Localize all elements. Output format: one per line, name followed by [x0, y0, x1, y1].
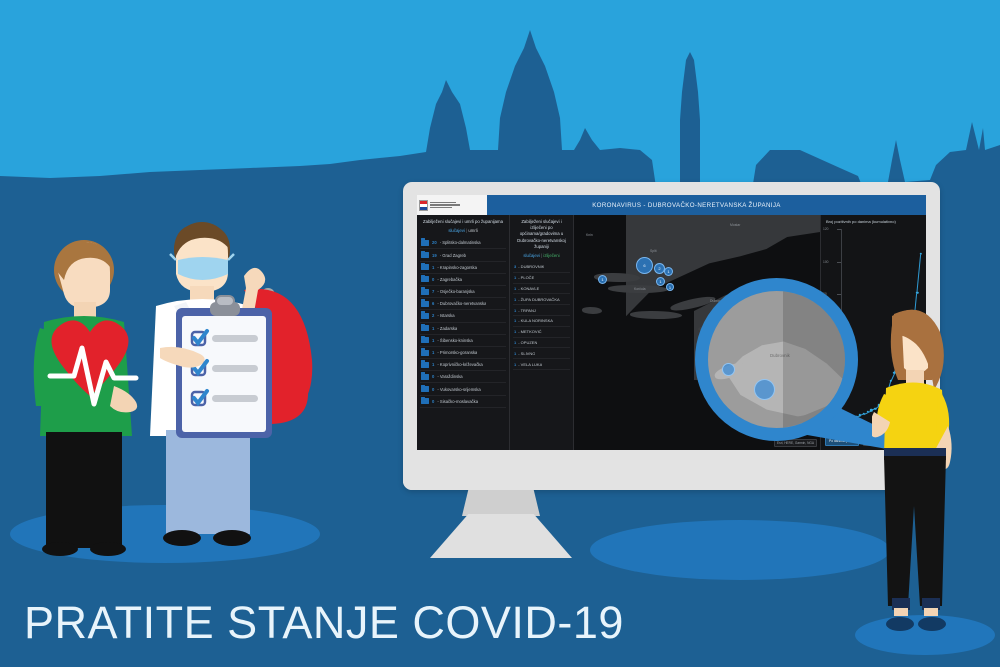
chart-y-tick-label: 100	[823, 260, 829, 264]
folder-icon	[421, 289, 429, 295]
county-count: 1	[432, 362, 434, 367]
map-label-knin: Knin	[586, 233, 593, 237]
municipality-row[interactable]: 1- METKOVIĆ	[513, 327, 570, 338]
municipality-label: - SLIVNO	[518, 351, 535, 356]
county-label: - Dubrovačko-neretvanska	[437, 301, 486, 306]
map-marker-cluster-1c[interactable]: 1	[598, 275, 607, 284]
county-count: 0	[432, 374, 434, 379]
municipality-count: 1	[514, 318, 516, 323]
folder-icon	[421, 240, 429, 246]
municipalities-toggle[interactable]: slučajevi | izliječeni	[513, 253, 570, 258]
chart-y-tick-label: 80	[823, 292, 827, 296]
county-label: - Vukovarsko-srijemska	[437, 387, 480, 392]
county-label: - Koprivničko-križevačka	[437, 362, 482, 367]
municipality-label: - KULA NORINSKA	[518, 318, 553, 323]
map-marker-cluster-1b[interactable]: 1	[656, 277, 665, 286]
municipality-label: - PLOČE	[518, 275, 534, 280]
monitor-chin	[403, 463, 940, 490]
dashboard-title: KORONAVIRUS - DUBROVAČKO-NERETVANSKA ŽUP…	[487, 202, 926, 209]
chart-line-segment	[916, 254, 921, 293]
folder-icon	[421, 362, 429, 368]
counties-toggle-sep: |	[466, 228, 467, 233]
municipality-count: 1	[514, 340, 516, 345]
county-label: - Sisačko-moslavačka	[437, 399, 478, 404]
county-count: 1	[432, 350, 434, 355]
municipalities-panel: Zabilježeni slučajevi i izliječeni po op…	[510, 215, 574, 450]
croatia-institute-logo	[417, 195, 487, 215]
folder-icon	[421, 264, 429, 270]
desktop-monitor: KORONAVIRUS - DUBROVAČKO-NERETVANSKA ŽUP…	[403, 182, 940, 490]
county-label: - Grad Zagreb	[440, 253, 466, 258]
monitor-stand-neck	[462, 490, 540, 516]
municipality-count: 1	[514, 329, 516, 334]
chart-y-tick-label: 20	[823, 390, 827, 394]
chart-y-tick-mark	[837, 327, 841, 328]
map-island-vis	[582, 307, 602, 314]
doctor-with-clipboard	[140, 220, 315, 556]
county-count: 2	[432, 313, 434, 318]
county-count: 1	[432, 338, 434, 343]
poster-headline: PRATITE STANJE COVID-19	[24, 597, 624, 649]
counties-list[interactable]: 20- Splitsko-dalmatinska19- Grad Zagreb1…	[420, 237, 506, 408]
county-row[interactable]: 1- Zadarska	[420, 323, 506, 335]
map-marker-cluster-1a[interactable]: 1	[664, 267, 673, 276]
croatia-flag-icon	[419, 200, 428, 211]
county-count: 19	[432, 253, 437, 258]
county-row[interactable]: 0- Sisačko-moslavačka	[420, 396, 506, 408]
folder-icon	[421, 301, 429, 307]
municipality-count: 1	[514, 275, 516, 280]
counties-panel: Zabilježeni slučajevi i umrli po županij…	[417, 215, 510, 450]
county-row[interactable]: 20- Splitsko-dalmatinska	[420, 237, 506, 249]
municipality-label: - METKOVIĆ	[518, 329, 541, 334]
chart-y-tick-mark	[837, 229, 841, 230]
county-label: - Zagrebačka	[437, 277, 462, 282]
folder-icon	[421, 276, 429, 282]
county-count: 1	[432, 326, 434, 331]
chart-y-axis	[841, 229, 842, 425]
folder-icon	[421, 252, 429, 258]
chart-y-tick-label: 0	[823, 423, 825, 427]
chart-y-tick-label: 40	[823, 358, 827, 362]
county-count: 0	[432, 387, 434, 392]
county-label: - Osječko-baranjska	[437, 289, 474, 294]
municipalities-toggle-sep: |	[541, 253, 542, 258]
municipalities-list[interactable]: 3- DUBROVNIK1- PLOČE1- KONAVLE1- ŽUPA DU…	[513, 262, 570, 370]
county-label: - Šibensko-kninska	[437, 338, 472, 343]
map-label-korcula: Korčula	[634, 287, 646, 291]
county-count: 6	[432, 301, 434, 306]
county-row[interactable]: 6- Dubrovačko-neretvanska	[420, 298, 506, 310]
municipalities-toggle-recovered[interactable]: izliječeni	[543, 253, 559, 258]
map-marker-cluster-6[interactable]: 6	[636, 257, 653, 274]
map-panel[interactable]: Mostar Split Dubrovnik Korčula Knin 6 2 …	[574, 215, 820, 450]
municipality-row[interactable]: 1- TRPANJ	[513, 305, 570, 316]
county-count: 0	[432, 277, 434, 282]
municipality-row[interactable]: 1- KONAVLE	[513, 284, 570, 295]
municipalities-panel-title: Zabilježeni slučajevi i izliječeni po op…	[513, 219, 570, 250]
municipality-count: 1	[514, 297, 516, 302]
municipality-row[interactable]: 1- SLIVNO	[513, 348, 570, 359]
county-label: - Krapinsko-zagorska	[437, 265, 477, 270]
county-count: 0	[432, 399, 434, 404]
chart-y-tick-label: 60	[823, 325, 827, 329]
municipality-label: - KONAVLE	[518, 286, 539, 291]
municipality-count: 3	[514, 264, 516, 269]
counties-toggle[interactable]: slučajevi | umrli	[420, 228, 506, 233]
folder-icon	[421, 313, 429, 319]
counties-toggle-deaths[interactable]: umrli	[468, 228, 477, 233]
municipality-count: 1	[514, 308, 516, 313]
map-label-split: Split	[650, 249, 657, 253]
chart-y-tick-mark	[837, 360, 841, 361]
county-count: 7	[432, 289, 434, 294]
folder-icon	[421, 337, 429, 343]
county-row[interactable]: 19- Grad Zagreb	[420, 249, 506, 261]
municipality-row[interactable]: 1- VELA LUKA	[513, 359, 570, 370]
map-attribution: Esri, HERE, Garmin, NGA	[774, 439, 817, 447]
covid-dashboard: KORONAVIRUS - DUBROVAČKO-NERETVANSKA ŽUP…	[417, 195, 926, 450]
county-row[interactable]: 1- Primorsko-goranska	[420, 347, 506, 359]
map-marker-cluster-1d[interactable]: 1	[666, 283, 674, 291]
counties-panel-title: Zabilježeni slučajevi i umrli po županij…	[420, 219, 506, 225]
chart-title: Broj pozitivnih po danima (kumulativno)	[826, 219, 896, 224]
folder-icon	[421, 325, 429, 331]
woman-with-magnifier	[872, 306, 958, 636]
municipality-count: 1	[514, 362, 516, 367]
municipality-label: - OPUZEN	[518, 340, 537, 345]
municipality-label: - VELA LUKA	[518, 362, 542, 367]
municipality-count: 1	[514, 286, 516, 291]
municipality-row[interactable]: 3- DUBROVNIK	[513, 262, 570, 273]
county-row[interactable]: 0- Varaždinska	[420, 371, 506, 383]
folder-icon	[421, 374, 429, 380]
county-row[interactable]: 1- Koprivničko-križevačka	[420, 359, 506, 371]
folder-icon	[421, 398, 429, 404]
county-label: - Istarska	[437, 313, 454, 318]
counties-toggle-cases[interactable]: slučajevi	[448, 228, 464, 233]
county-label: - Varaždinska	[437, 374, 462, 379]
folder-icon	[421, 386, 429, 392]
chart-y-tick-mark	[837, 262, 841, 263]
municipality-label: - TRPANJ	[518, 308, 536, 313]
municipality-row[interactable]: 1- ŽUPA DUBROVAČKA	[513, 294, 570, 305]
map-label-dubrovnik: Dubrovnik	[710, 299, 725, 303]
chart-tab[interactable]: Po danima (kum.)	[825, 436, 859, 446]
map-island-korcula	[630, 311, 682, 319]
municipality-row[interactable]: 1- OPUZEN	[513, 338, 570, 349]
monitor-screen: KORONAVIRUS - DUBROVAČKO-NERETVANSKA ŽUP…	[417, 195, 926, 450]
municipality-row[interactable]: 1- KULA NORINSKA	[513, 316, 570, 327]
county-label: - Splitsko-dalmatinska	[440, 240, 481, 245]
county-count: 20	[432, 240, 437, 245]
county-row[interactable]: 0- Zagrebačka	[420, 274, 506, 286]
county-count: 1	[432, 265, 434, 270]
county-row[interactable]: 2- Istarska	[420, 310, 506, 322]
municipality-label: - ŽUPA DUBROVAČKA	[518, 297, 559, 302]
county-label: - Primorsko-goranska	[437, 350, 477, 355]
county-row[interactable]: 1- Krapinsko-zagorska	[420, 262, 506, 274]
county-row[interactable]: 1- Šibensko-kninska	[420, 335, 506, 347]
county-label: - Zadarska	[437, 326, 457, 331]
municipalities-toggle-cases[interactable]: slučajevi	[523, 253, 539, 258]
municipality-count: 1	[514, 351, 516, 356]
poster-canvas: KORONAVIRUS - DUBROVAČKO-NERETVANSKA ŽUP…	[0, 0, 1000, 667]
folder-icon	[421, 350, 429, 356]
county-row[interactable]: 7- Osječko-baranjska	[420, 286, 506, 298]
county-row[interactable]: 0- Vukovarsko-srijemska	[420, 383, 506, 395]
municipality-label: - DUBROVNIK	[518, 264, 544, 269]
chart-y-tick-mark	[837, 392, 841, 393]
map-label-mostar: Mostar	[730, 223, 740, 227]
chart-y-tick-label: 120	[823, 227, 829, 231]
municipality-row[interactable]: 1- PLOČE	[513, 273, 570, 284]
dashboard-header-bar: KORONAVIRUS - DUBROVAČKO-NERETVANSKA ŽUP…	[417, 195, 926, 215]
chart-y-tick-mark	[837, 294, 841, 295]
chart-y-tick-mark	[837, 425, 841, 426]
monitor-floor-shadow	[590, 520, 890, 580]
